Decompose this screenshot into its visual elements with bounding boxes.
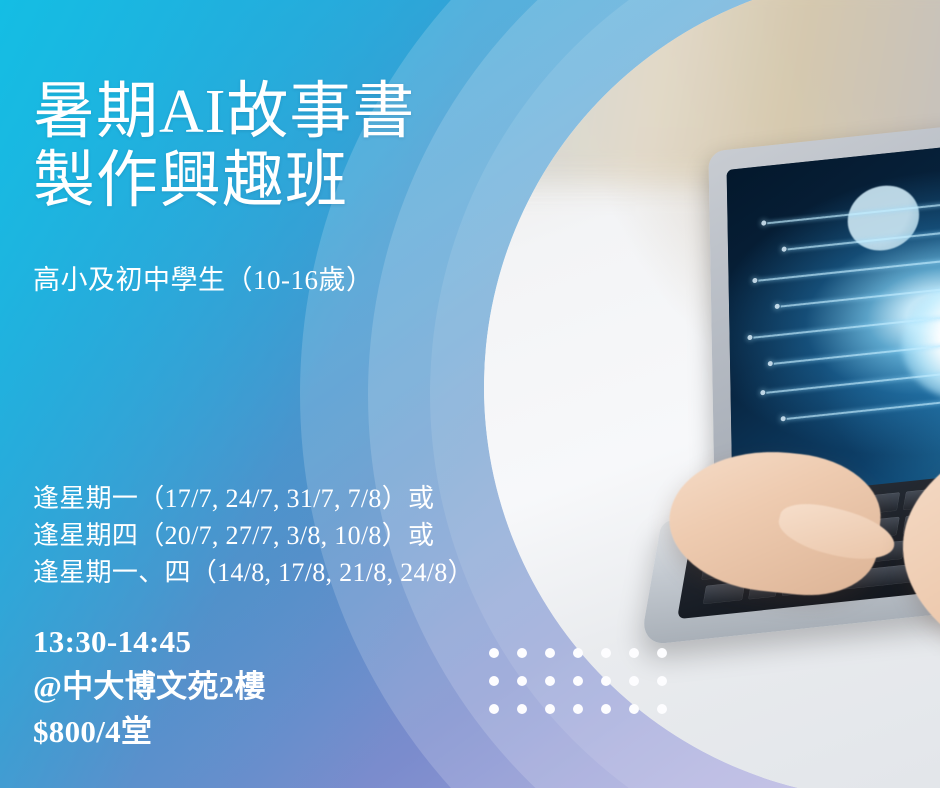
headline-line-1: 暑期AI故事書: [33, 78, 415, 147]
detail-time: 13:30-14:45: [33, 620, 266, 665]
schedule-block: 逢星期一（17/7, 24/7, 31/7, 7/8）或 逢星期四（20/7, …: [33, 481, 474, 592]
laptop-photo: AI: [484, 0, 940, 788]
details-block: 13:30-14:45 @中大博文苑2樓 $800/4堂: [33, 620, 266, 755]
schedule-line-3: 逢星期一、四（14/8, 17/8, 21/8, 24/8）: [33, 555, 474, 592]
promo-poster: AI: [0, 0, 940, 788]
detail-price: $800/4堂: [33, 710, 266, 755]
headline: 暑期AI故事書 製作興趣班: [33, 78, 415, 217]
detail-venue: @中大博文苑2樓: [33, 665, 266, 710]
laptop-illustration: AI: [601, 86, 940, 701]
photo-circle: AI: [484, 0, 940, 788]
schedule-line-2: 逢星期四（20/7, 27/7, 3/8, 10/8）或: [33, 518, 474, 555]
headline-line-2: 製作興趣班: [33, 147, 415, 216]
schedule-line-1: 逢星期一（17/7, 24/7, 31/7, 7/8）或: [33, 481, 474, 518]
subtitle-audience: 高小及初中學生（10-16歲）: [33, 258, 374, 297]
